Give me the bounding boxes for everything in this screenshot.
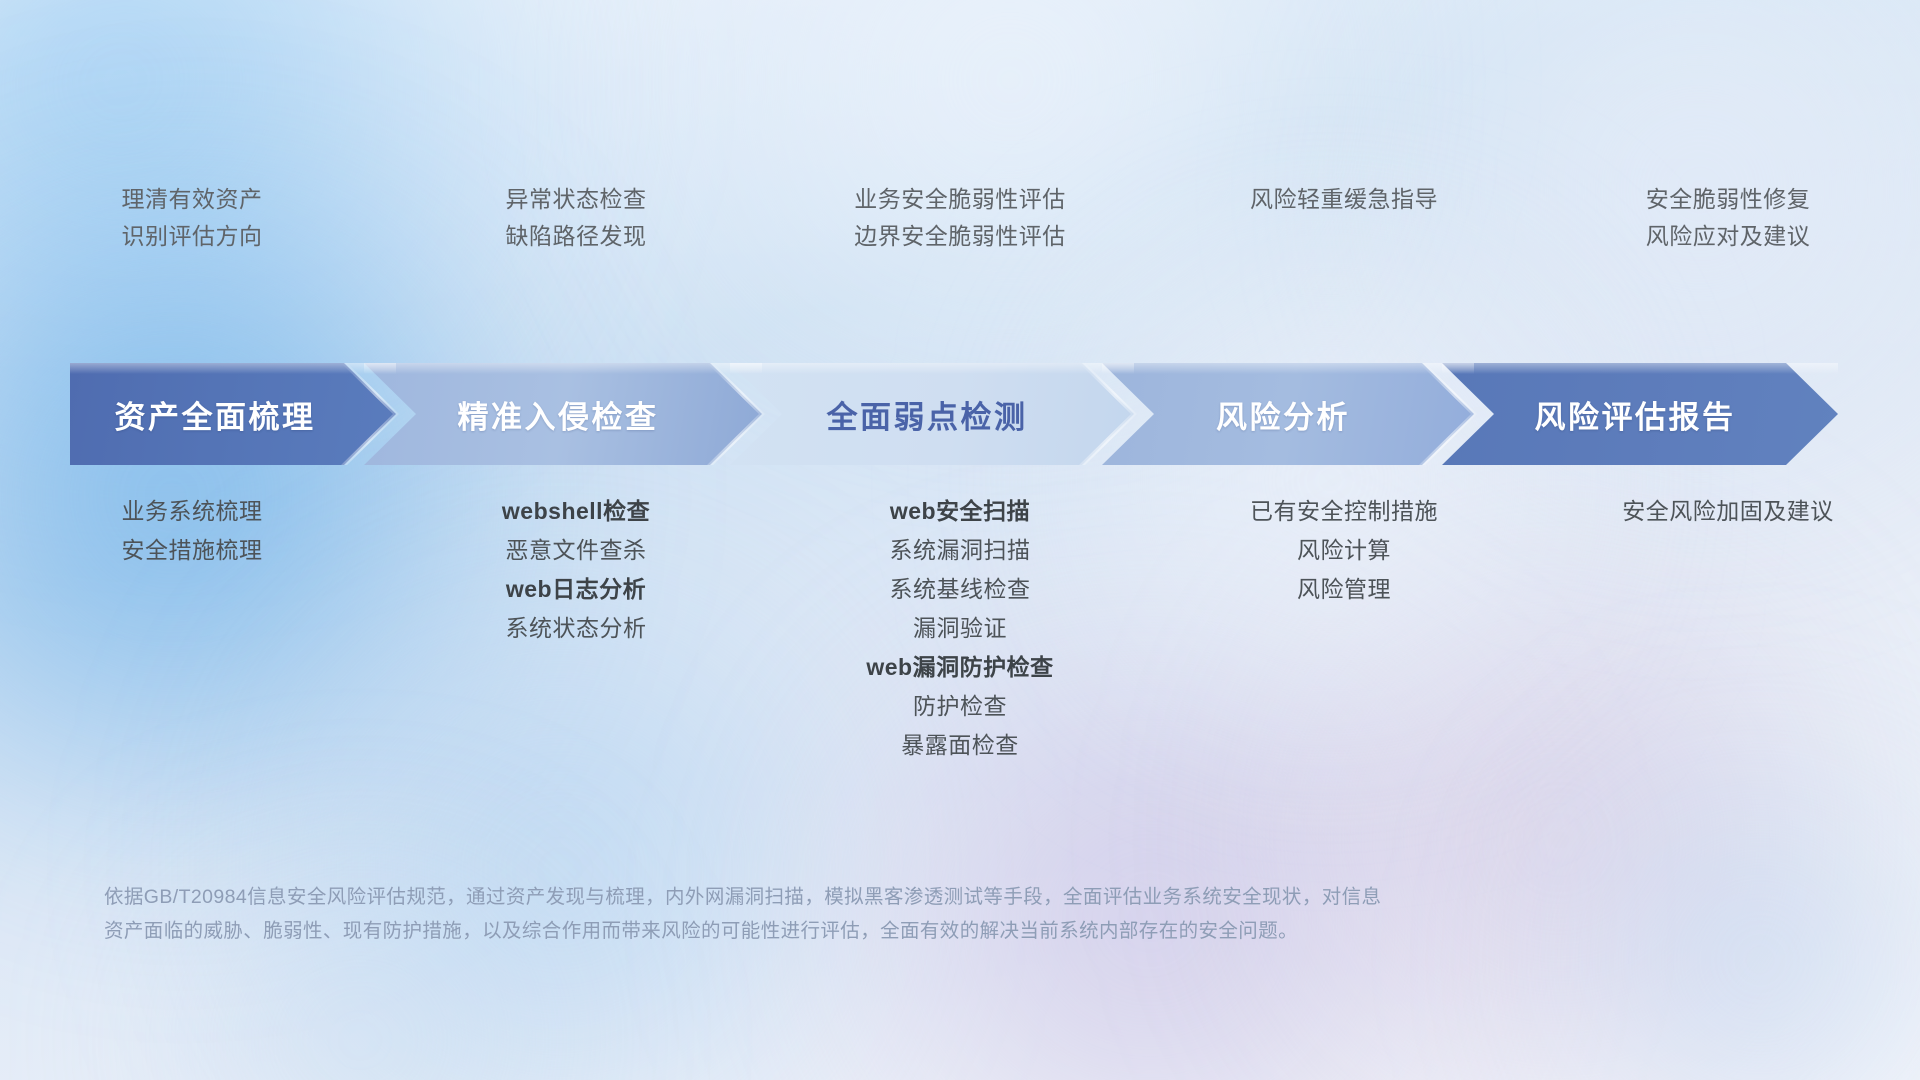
- stage-title: 资产全面梳理: [115, 392, 316, 437]
- top-label-group-4: 风险轻重缓急指导: [1152, 188, 1536, 288]
- stage-chevron-weakness-detection[interactable]: 全面弱点检测: [730, 363, 1134, 465]
- list-item: 系统基线检查: [890, 578, 1031, 601]
- process-diagram: 理清有效资产 识别评估方向 异常状态检查 缺陷路径发现 业务安全脆弱性评估 边界…: [0, 0, 1920, 1080]
- bottom-list-group-2: webshell检查 恶意文件查杀 web日志分析 系统状态分析: [384, 500, 768, 640]
- top-label: 业务安全脆弱性评估: [854, 188, 1066, 211]
- top-label-row: 理清有效资产 识别评估方向 异常状态检查 缺陷路径发现 业务安全脆弱性评估 边界…: [0, 188, 1920, 288]
- list-item: web安全扫描: [890, 500, 1030, 523]
- stage-chevron-asset-inventory[interactable]: 资产全面梳理: [70, 363, 396, 465]
- list-item: web漏洞防护检查: [866, 656, 1053, 679]
- list-item: 风险管理: [1297, 578, 1391, 601]
- bottom-list-group-5: 安全风险加固及建议: [1536, 500, 1920, 523]
- bottom-list-group-4: 已有安全控制措施 风险计算 风险管理: [1152, 500, 1536, 601]
- list-item: 已有安全控制措施: [1250, 500, 1438, 523]
- top-label-group-3: 业务安全脆弱性评估 边界安全脆弱性评估: [768, 188, 1152, 288]
- list-item: 安全风险加固及建议: [1622, 500, 1834, 523]
- list-item: 暴露面检查: [901, 734, 1019, 757]
- stage-chevron-risk-analysis[interactable]: 风险分析: [1102, 363, 1474, 465]
- bottom-list-group-3: web安全扫描 系统漏洞扫描 系统基线检查 漏洞验证 web漏洞防护检查 防护检…: [768, 500, 1152, 757]
- footer-description: 依据GB/T20984信息安全风险评估规范，通过资产发现与梳理，内外网漏洞扫描，…: [104, 880, 1644, 948]
- footer-line-1: 依据GB/T20984信息安全风险评估规范，通过资产发现与梳理，内外网漏洞扫描，…: [104, 880, 1644, 914]
- list-item: 恶意文件查杀: [506, 539, 647, 562]
- top-label: 缺陷路径发现: [506, 225, 647, 248]
- top-label-group-1: 理清有效资产 识别评估方向: [0, 188, 384, 288]
- top-label: 风险轻重缓急指导: [1250, 188, 1438, 211]
- top-label: 识别评估方向: [122, 225, 263, 248]
- footer-line-2: 资产面临的威胁、脆弱性、现有防护措施，以及综合作用而带来风险的可能性进行评估，全…: [104, 914, 1644, 948]
- list-item: web日志分析: [506, 578, 646, 601]
- top-label: 边界安全脆弱性评估: [854, 225, 1066, 248]
- stage-chevron-risk-report[interactable]: 风险评估报告: [1442, 363, 1838, 465]
- list-item: 防护检查: [913, 695, 1007, 718]
- stage-chevron-intrusion-check[interactable]: 精准入侵检查: [364, 363, 762, 465]
- stage-title: 风险评估报告: [1535, 392, 1736, 437]
- top-label-group-2: 异常状态检查 缺陷路径发现: [384, 188, 768, 288]
- top-label: 异常状态检查: [506, 188, 647, 211]
- top-label-group-5: 安全脆弱性修复 风险应对及建议: [1536, 188, 1920, 288]
- list-item: webshell检查: [502, 500, 650, 523]
- stage-title: 风险分析: [1216, 392, 1350, 437]
- list-item: 系统漏洞扫描: [890, 539, 1031, 562]
- top-label: 理清有效资产: [122, 188, 263, 211]
- top-label: 风险应对及建议: [1646, 225, 1811, 248]
- top-label: 安全脆弱性修复: [1646, 188, 1811, 211]
- stage-title: 精准入侵检查: [458, 392, 659, 437]
- list-item: 业务系统梳理: [122, 500, 263, 523]
- stage-chevron-band: 资产全面梳理 精准入侵检查 全面弱点检测 风险分析 风险评估报告: [70, 363, 1850, 465]
- list-item: 系统状态分析: [506, 617, 647, 640]
- list-item: 安全措施梳理: [122, 539, 263, 562]
- list-item: 漏洞验证: [913, 617, 1007, 640]
- list-item: 风险计算: [1297, 539, 1391, 562]
- bottom-list-row: 业务系统梳理 安全措施梳理 webshell检查 恶意文件查杀 web日志分析 …: [0, 500, 1920, 757]
- bottom-list-group-1: 业务系统梳理 安全措施梳理: [0, 500, 384, 562]
- stage-title: 全面弱点检测: [827, 392, 1028, 437]
